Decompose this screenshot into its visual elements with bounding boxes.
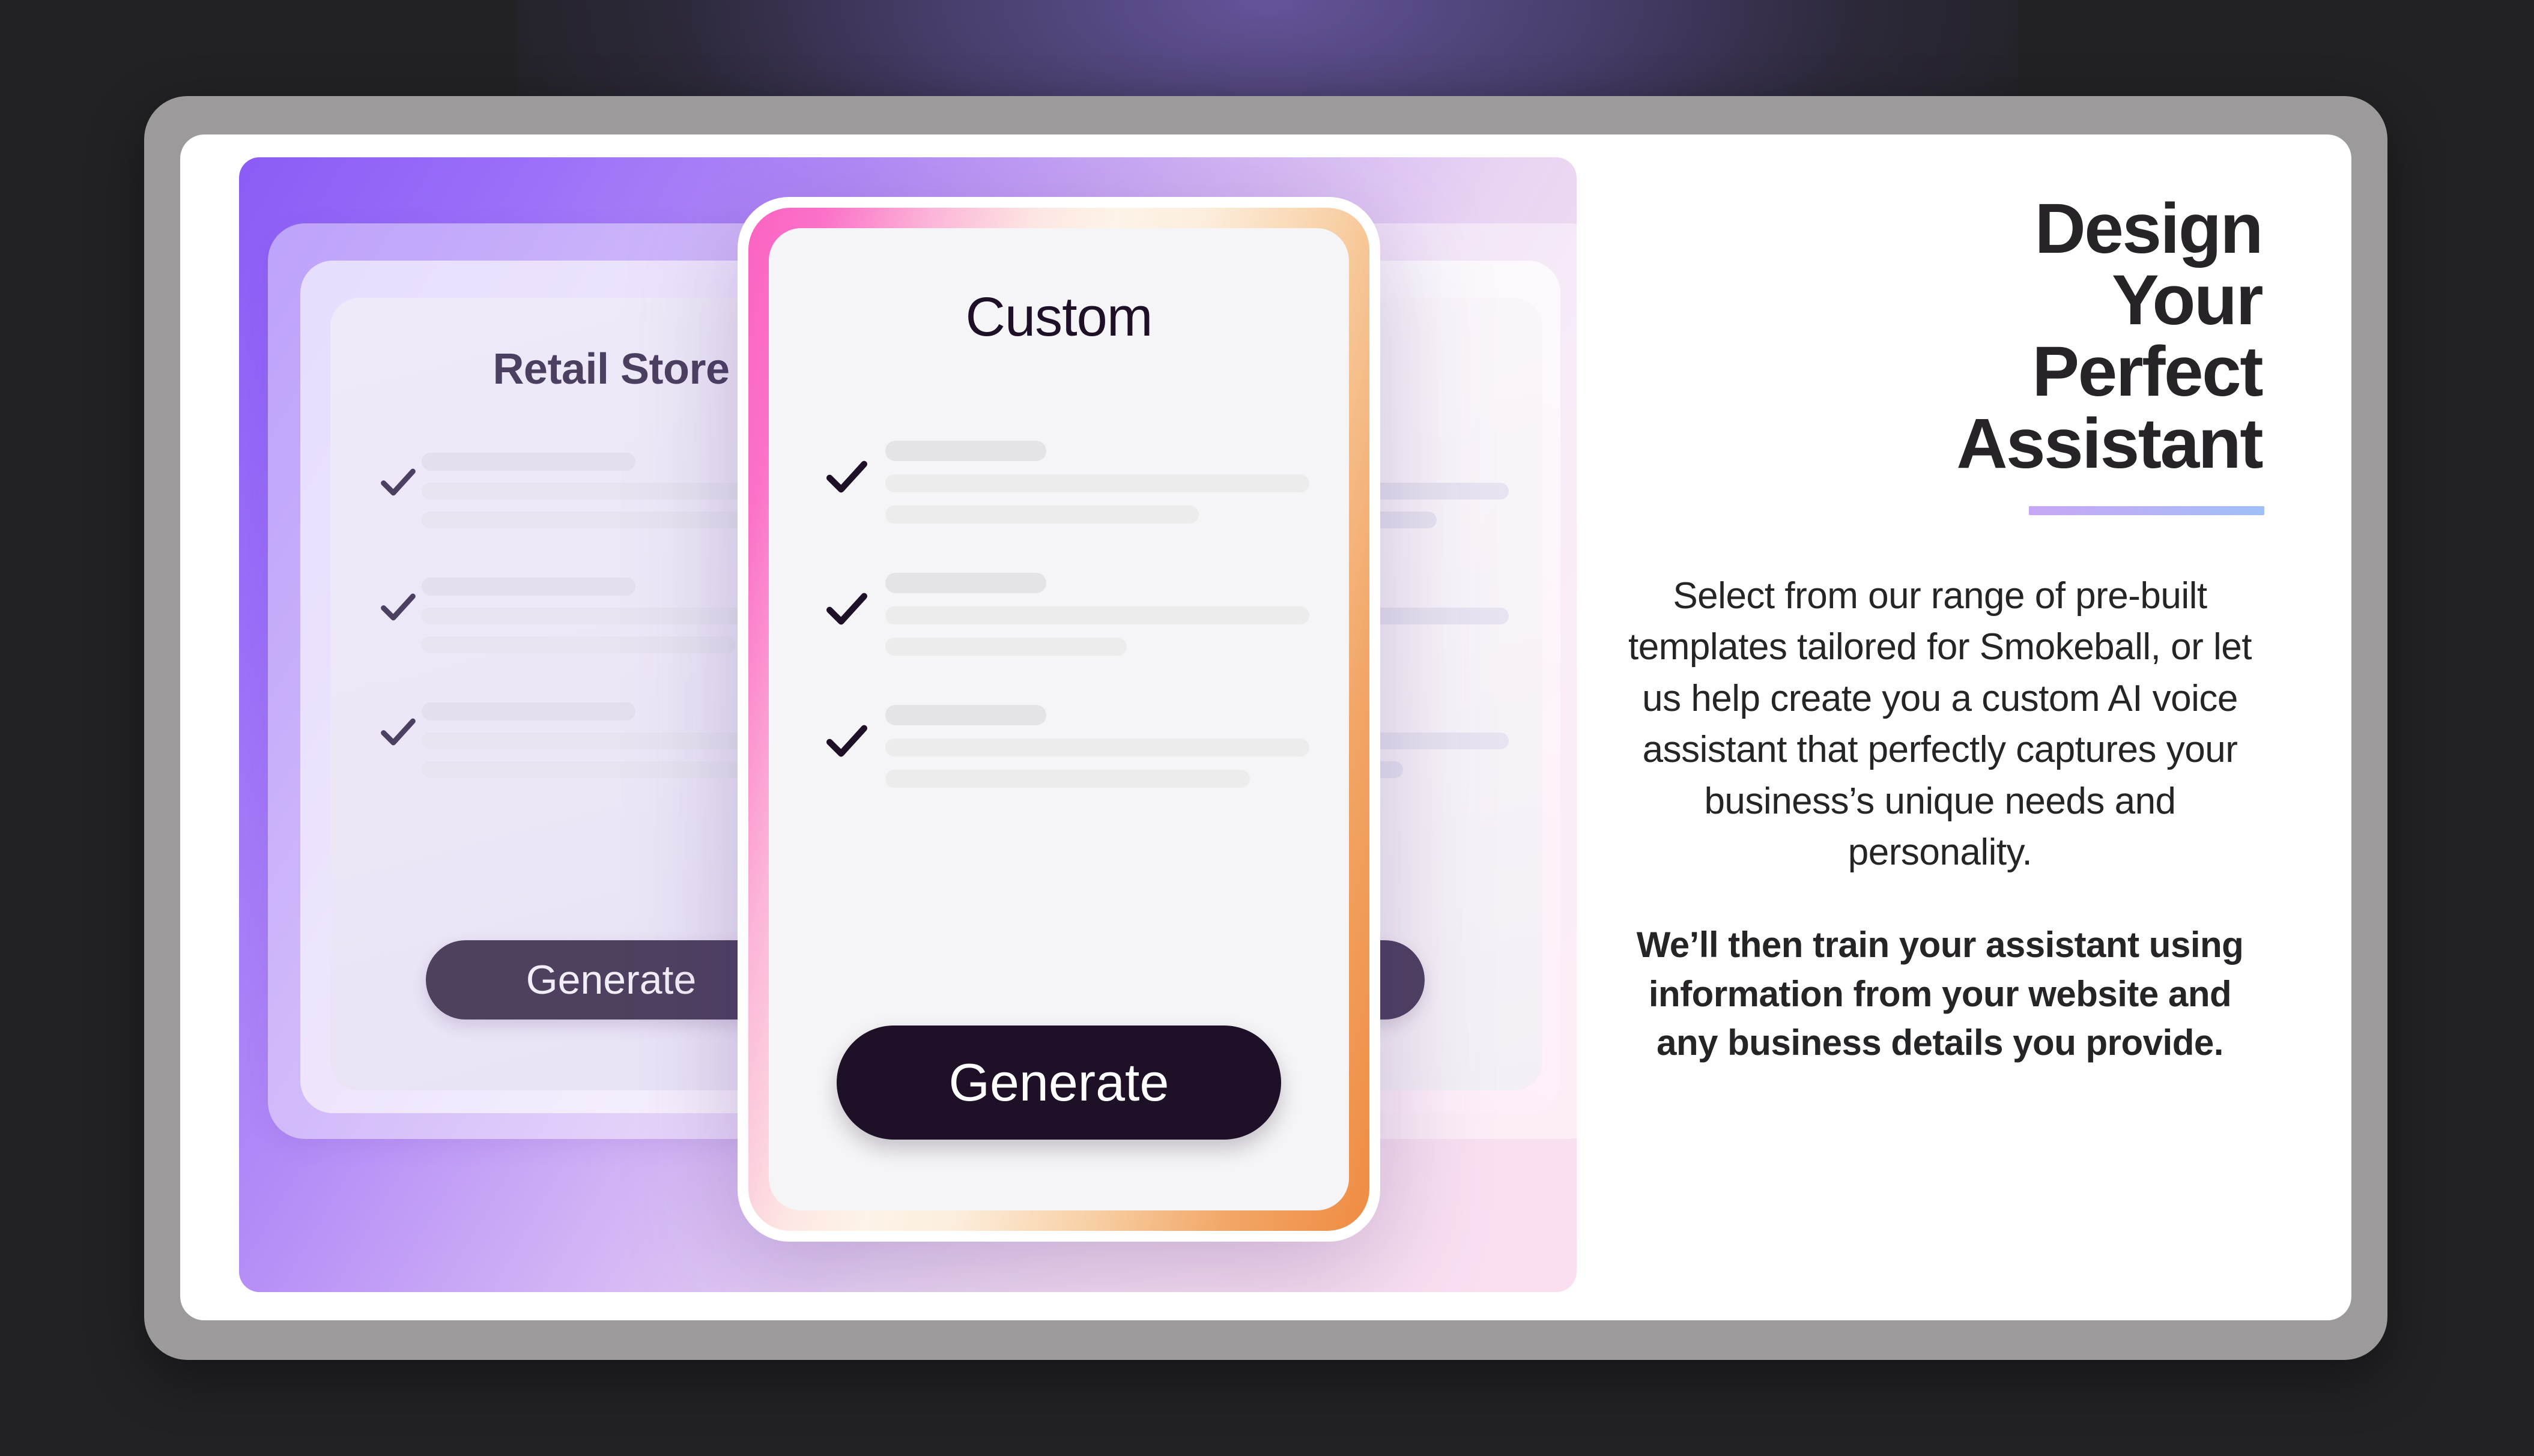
custom-card-gradient-border: Custom <box>748 208 1369 1231</box>
skeleton-bars <box>885 702 1309 801</box>
check-icon <box>375 459 422 506</box>
skeleton-bars <box>885 570 1309 669</box>
page-title-line-4: Assistant <box>1616 408 2262 480</box>
page-title-line-3: Perfect <box>1616 336 2262 408</box>
device-screen: Retail Store <box>180 134 2351 1320</box>
check-icon <box>819 713 874 769</box>
template-card-custom[interactable]: Custom <box>738 197 1380 1242</box>
list-item <box>819 438 1309 537</box>
check-icon <box>819 449 874 504</box>
title-accent-rule <box>2029 506 2264 515</box>
check-icon <box>375 708 422 755</box>
page-title-line-2: Your <box>1616 265 2262 336</box>
template-gallery-stage: Retail Store <box>239 157 1577 1292</box>
generate-button-custom[interactable]: Generate <box>837 1026 1281 1140</box>
list-item <box>819 570 1309 669</box>
custom-card-white-halo: Custom <box>738 197 1380 1242</box>
screenshot-root: Retail Store <box>0 0 2534 1456</box>
info-paragraph: Select from our range of pre-built templ… <box>1616 570 2264 878</box>
custom-card-surface: Custom <box>769 228 1349 1210</box>
custom-card-title: Custom <box>769 286 1349 349</box>
page-title: Design Your Perfect Assistant <box>1616 193 2264 480</box>
skeleton-bars <box>885 438 1309 537</box>
device-frame: Retail Store <box>144 96 2387 1360</box>
list-item <box>819 702 1309 801</box>
info-paragraph-emphasis: We’ll then train your assistant using in… <box>1616 920 2264 1068</box>
check-icon <box>819 581 874 636</box>
check-icon <box>375 584 422 630</box>
custom-checklist <box>819 438 1309 835</box>
info-panel: Design Your Perfect Assistant Select fro… <box>1592 157 2300 1292</box>
page-title-line-1: Design <box>1616 193 2262 265</box>
